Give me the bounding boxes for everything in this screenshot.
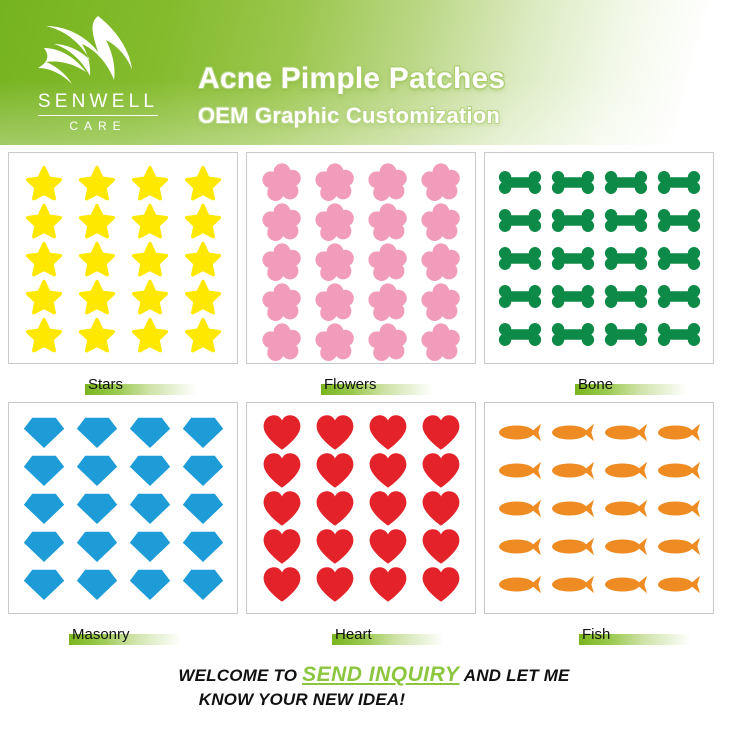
patch-grid <box>485 403 713 613</box>
heart-patch-icon <box>308 489 361 527</box>
bone-patch-icon <box>599 163 652 201</box>
fish-patch-icon <box>599 451 652 489</box>
diamond-patch-icon <box>17 565 70 603</box>
flower-patch-icon <box>414 203 467 243</box>
flower-patch-icon <box>255 243 308 283</box>
flower-patch-icon <box>414 323 467 363</box>
fish-patch-icon <box>652 451 705 489</box>
star-patch-icon <box>176 239 229 277</box>
heart-patch-icon <box>361 413 414 451</box>
flower-patch-icon <box>308 203 361 243</box>
star-patch-icon <box>17 163 70 201</box>
star-patch-icon <box>176 277 229 315</box>
bone-patch-icon <box>546 239 599 277</box>
star-patch-icon <box>70 201 123 239</box>
patch-label-bone: Bone <box>578 372 613 396</box>
star-patch-icon <box>176 315 229 353</box>
diamond-patch-icon <box>70 451 123 489</box>
bone-patch-icon <box>652 315 705 353</box>
diamond-patch-icon <box>17 489 70 527</box>
star-patch-icon <box>176 201 229 239</box>
patch-sheet-fish[interactable] <box>484 402 714 614</box>
patch-grid <box>247 403 475 613</box>
patch-label-flower: Flowers <box>324 372 377 396</box>
flower-patch-icon <box>308 323 361 363</box>
bone-patch-icon <box>599 239 652 277</box>
heart-patch-icon <box>414 451 467 489</box>
bone-patch-icon <box>493 163 546 201</box>
heart-patch-icon <box>308 527 361 565</box>
fish-patch-icon <box>546 565 599 603</box>
flower-patch-icon <box>308 163 361 203</box>
fish-patch-icon <box>493 413 546 451</box>
diamond-patch-icon <box>123 413 176 451</box>
footer-line-1: WELCOME TO SEND INQUIRY AND LET ME <box>0 663 730 688</box>
fish-patch-icon <box>599 489 652 527</box>
patch-sheet-bone[interactable] <box>484 152 714 364</box>
flower-patch-icon <box>361 203 414 243</box>
diamond-patch-icon <box>176 413 229 451</box>
fish-patch-icon <box>652 565 705 603</box>
flower-patch-icon <box>255 283 308 323</box>
page-subtitle: OEM Graphic Customization <box>198 105 500 127</box>
flower-patch-icon <box>255 203 308 243</box>
fish-patch-icon <box>546 489 599 527</box>
logo-divider <box>38 115 158 116</box>
bone-patch-icon <box>599 277 652 315</box>
footer-text-before: WELCOME TO <box>178 666 302 685</box>
diamond-patch-icon <box>123 489 176 527</box>
fish-patch-icon <box>546 527 599 565</box>
patch-label-diamond: Masonry <box>72 622 130 646</box>
star-patch-icon <box>70 315 123 353</box>
page-title: Acne Pimple Patches <box>198 64 505 94</box>
brand-logo: SENWELL CARE <box>18 14 178 136</box>
diamond-patch-icon <box>70 527 123 565</box>
flower-patch-icon <box>361 283 414 323</box>
bone-patch-icon <box>493 277 546 315</box>
fish-patch-icon <box>493 489 546 527</box>
patch-label-star: Stars <box>88 372 123 396</box>
patch-grid <box>247 153 475 363</box>
star-patch-icon <box>176 163 229 201</box>
heart-patch-icon <box>255 527 308 565</box>
patch-label-text: Stars <box>88 376 123 393</box>
patch-grid <box>485 153 713 363</box>
star-patch-icon <box>123 239 176 277</box>
star-patch-icon <box>17 315 70 353</box>
fish-patch-icon <box>546 413 599 451</box>
star-patch-icon <box>123 315 176 353</box>
footer-text-after: AND LET ME <box>459 666 569 685</box>
heart-patch-icon <box>414 489 467 527</box>
diamond-patch-icon <box>123 565 176 603</box>
heart-patch-icon <box>255 489 308 527</box>
header-banner: SENWELL CARE Acne Pimple Patches OEM Gra… <box>0 0 730 145</box>
star-patch-icon <box>17 239 70 277</box>
heart-patch-icon <box>414 565 467 603</box>
star-patch-icon <box>123 163 176 201</box>
flower-patch-icon <box>361 243 414 283</box>
diamond-patch-icon <box>17 413 70 451</box>
fish-patch-icon <box>599 527 652 565</box>
heart-patch-icon <box>255 451 308 489</box>
fish-patch-icon <box>652 527 705 565</box>
heart-patch-icon <box>361 565 414 603</box>
heart-patch-icon <box>361 527 414 565</box>
bone-patch-icon <box>599 315 652 353</box>
heart-patch-icon <box>414 527 467 565</box>
patch-sheet-star[interactable] <box>8 152 238 364</box>
heart-patch-icon <box>308 451 361 489</box>
flower-patch-icon <box>361 163 414 203</box>
diamond-patch-icon <box>176 451 229 489</box>
star-patch-icon <box>17 277 70 315</box>
flower-patch-icon <box>308 243 361 283</box>
bone-patch-icon <box>652 277 705 315</box>
diamond-patch-icon <box>176 527 229 565</box>
fish-patch-icon <box>652 489 705 527</box>
flower-patch-icon <box>414 243 467 283</box>
logo-brand-name: SENWELL <box>18 92 178 111</box>
fish-patch-icon <box>652 413 705 451</box>
heart-patch-icon <box>361 451 414 489</box>
heart-patch-icon <box>255 413 308 451</box>
star-patch-icon <box>123 277 176 315</box>
product-marketing-image: SENWELL CARE Acne Pimple Patches OEM Gra… <box>0 0 730 730</box>
heart-patch-icon <box>361 489 414 527</box>
fish-patch-icon <box>493 451 546 489</box>
bone-patch-icon <box>546 201 599 239</box>
bone-patch-icon <box>599 201 652 239</box>
diamond-patch-icon <box>70 565 123 603</box>
patch-label-text: Flowers <box>324 376 377 393</box>
patch-label-text: Heart <box>335 626 372 643</box>
diamond-patch-icon <box>17 527 70 565</box>
bone-patch-icon <box>493 239 546 277</box>
flower-patch-icon <box>255 163 308 203</box>
fish-patch-icon <box>493 527 546 565</box>
diamond-patch-icon <box>70 489 123 527</box>
patch-sheet-flower[interactable] <box>246 152 476 364</box>
bone-patch-icon <box>652 239 705 277</box>
diamond-patch-icon <box>70 413 123 451</box>
patch-label-text: Fish <box>582 626 610 643</box>
bone-patch-icon <box>546 277 599 315</box>
flower-patch-icon <box>414 163 467 203</box>
patch-label-text: Masonry <box>72 626 130 643</box>
bone-patch-icon <box>493 315 546 353</box>
diamond-patch-icon <box>123 451 176 489</box>
footer-call-to-action: WELCOME TO SEND INQUIRY AND LET ME KNOW … <box>0 663 730 730</box>
patch-label-heart: Heart <box>335 622 372 646</box>
star-patch-icon <box>17 201 70 239</box>
flower-patch-icon <box>414 283 467 323</box>
star-patch-icon <box>70 277 123 315</box>
diamond-patch-icon <box>176 565 229 603</box>
bone-patch-icon <box>493 201 546 239</box>
patch-sheet-heart[interactable] <box>246 402 476 614</box>
diamond-patch-icon <box>17 451 70 489</box>
flower-patch-icon <box>255 323 308 363</box>
heart-patch-icon <box>308 565 361 603</box>
patch-grid <box>9 153 237 363</box>
bone-patch-icon <box>652 163 705 201</box>
bone-patch-icon <box>652 201 705 239</box>
patch-label-text: Bone <box>578 376 613 393</box>
fish-patch-icon <box>493 565 546 603</box>
heart-patch-icon <box>308 413 361 451</box>
footer-line-2: KNOW YOUR NEW IDEA! <box>0 688 730 712</box>
star-patch-icon <box>70 239 123 277</box>
send-inquiry-link[interactable]: SEND INQUIRY <box>302 663 459 686</box>
fish-patch-icon <box>599 413 652 451</box>
logo-brand-sub: CARE <box>18 120 178 132</box>
patch-sheet-diamond[interactable] <box>8 402 238 614</box>
star-patch-icon <box>70 163 123 201</box>
flower-patch-icon <box>308 283 361 323</box>
leaf-flame-logo-icon <box>36 14 144 94</box>
heart-patch-icon <box>414 413 467 451</box>
fish-patch-icon <box>546 451 599 489</box>
diamond-patch-icon <box>176 489 229 527</box>
flower-patch-icon <box>361 323 414 363</box>
star-patch-icon <box>123 201 176 239</box>
patch-grid <box>9 403 237 613</box>
bone-patch-icon <box>546 163 599 201</box>
bone-patch-icon <box>546 315 599 353</box>
fish-patch-icon <box>599 565 652 603</box>
diamond-patch-icon <box>123 527 176 565</box>
patch-label-fish: Fish <box>582 622 610 646</box>
heart-patch-icon <box>255 565 308 603</box>
